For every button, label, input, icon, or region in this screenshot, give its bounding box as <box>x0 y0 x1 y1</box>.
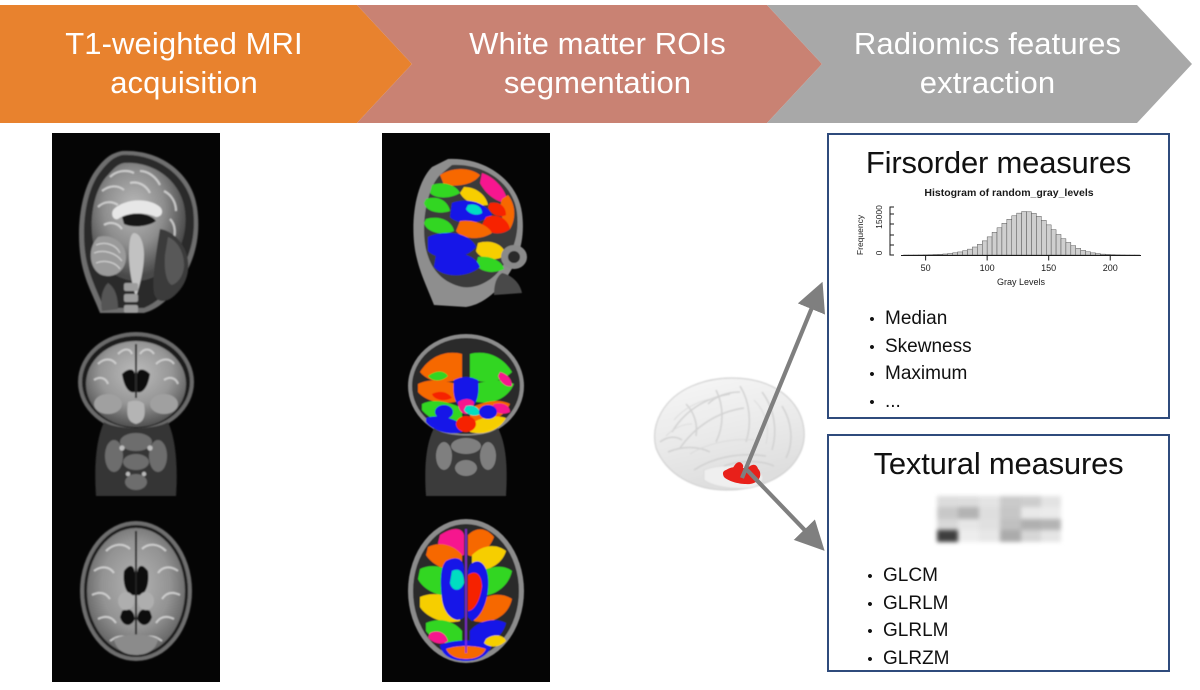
pipeline-step-white-matter-rois-segmentation: White matter ROIs segmentation <box>357 5 822 123</box>
firstorder-measures-box: Firsorder measures Histogram of random_g… <box>827 133 1170 419</box>
histogram-bar <box>992 232 997 255</box>
mri-segmented-column <box>382 133 550 682</box>
mri-panel-axial <box>52 499 220 682</box>
bullet-icon: • <box>859 309 885 331</box>
mri-panel-sagittal <box>52 133 220 316</box>
list-item: • ... <box>859 388 1168 416</box>
textural-box-title: Textural measures <box>829 446 1168 482</box>
brain-surface-render <box>620 350 840 520</box>
mri-segmented-panel-coronal <box>382 316 550 499</box>
histogram-bar <box>1021 212 1026 255</box>
bullet-icon: • <box>859 392 885 414</box>
histogram-bar <box>1090 253 1095 255</box>
histogram-ytick-15000: 15000 <box>874 205 884 229</box>
histogram-bar <box>1001 223 1006 255</box>
list-item: • Skewness <box>859 333 1168 361</box>
histogram-bar <box>962 251 967 255</box>
pipeline-step-t1-weighted-mri-acquisition: T1-weighted MRI acquisition <box>0 5 412 123</box>
histogram-bar <box>1036 216 1041 255</box>
textural-bullet-label: GLRLM <box>883 617 948 645</box>
textural-bullet-list: • GLCM • GLRLM • GLRLM • GLRZM <box>857 562 1168 672</box>
firstorder-box-title: Firsorder measures <box>829 145 1168 181</box>
textural-bullet-label: GLCM <box>883 562 938 590</box>
histogram-bar <box>1100 254 1105 255</box>
bullet-icon: • <box>857 649 883 671</box>
histogram-bar <box>937 254 942 255</box>
bullet-icon: • <box>857 621 883 643</box>
mri-native-column <box>52 133 220 682</box>
histogram-bar <box>972 247 977 255</box>
pipeline-step-radiomics-features-extraction: Radiomics features extraction <box>767 5 1192 123</box>
list-item: • Median <box>859 305 1168 333</box>
histogram-title: Histogram of random_gray_levels <box>924 187 1093 199</box>
histogram-ylabel: Frequency <box>855 214 865 255</box>
textural-bullet-label: GLRLM <box>883 590 948 618</box>
histogram-bar <box>1065 242 1070 255</box>
bullet-icon: • <box>857 594 883 616</box>
list-item: • GLRLM <box>857 590 1168 618</box>
textural-bullet-label: GLRZM <box>883 645 950 673</box>
histogram-bar <box>952 253 957 255</box>
histogram-xlabel: Gray Levels <box>996 277 1045 287</box>
pipeline-step-3-label: Radiomics features extraction <box>846 25 1129 103</box>
histogram-bar <box>1006 219 1011 255</box>
histogram-bar <box>1070 246 1075 255</box>
histogram-bar <box>942 254 947 255</box>
histogram-bar <box>982 241 987 255</box>
firstorder-bullet-label: Maximum <box>885 360 967 388</box>
histogram-bar <box>957 252 962 255</box>
histogram-bar <box>1061 239 1066 255</box>
list-item: • GLRZM <box>857 645 1168 673</box>
textural-measures-box: Textural measures <box>827 434 1170 672</box>
histogram-bar <box>1041 220 1046 255</box>
mri-panel-coronal <box>52 316 220 499</box>
histogram-bar <box>987 237 992 255</box>
mri-segmented-panel-sagittal <box>382 133 550 316</box>
histogram-bar <box>947 254 952 255</box>
histogram-bar <box>1051 230 1056 255</box>
histogram-xtick-label: 150 <box>1041 263 1056 273</box>
bullet-icon: • <box>857 566 883 588</box>
histogram-bar <box>1011 216 1016 255</box>
histogram-xtick-label: 200 <box>1102 263 1117 273</box>
histogram-bar <box>1095 254 1100 255</box>
histogram-bar <box>1075 248 1080 255</box>
pipeline-step-1-label: T1-weighted MRI acquisition <box>57 25 311 103</box>
histogram-ytick-0: 0 <box>874 250 884 255</box>
histogram-bar <box>967 249 972 255</box>
histogram-bar <box>1085 252 1090 255</box>
firstorder-bullet-label: Skewness <box>885 333 972 361</box>
texture-matrix-image <box>937 496 1061 542</box>
firstorder-bullet-label: ... <box>885 388 901 416</box>
histogram-bar <box>1080 250 1085 255</box>
list-item: • GLRLM <box>857 617 1168 645</box>
bullet-icon: • <box>859 364 885 386</box>
histogram-bar <box>1105 254 1110 255</box>
firstorder-bullet-list: • Median • Skewness • Maximum • ... <box>859 305 1168 415</box>
bullet-icon: • <box>859 337 885 359</box>
radiomics-pipeline-figure: T1-weighted MRI acquisition White matter… <box>0 0 1200 690</box>
mri-segmented-panel-axial <box>382 499 550 682</box>
histogram-bar <box>1016 213 1021 255</box>
pipeline-banner: T1-weighted MRI acquisition White matter… <box>0 5 1200 123</box>
list-item: • GLCM <box>857 562 1168 590</box>
list-item: • Maximum <box>859 360 1168 388</box>
histogram-bar <box>1046 225 1051 255</box>
histogram-xtick-label: 50 <box>920 263 930 273</box>
gray-level-histogram: Histogram of random_gray_levels Frequenc… <box>849 183 1149 291</box>
histogram-bar <box>1031 213 1036 255</box>
histogram-xtick-label: 100 <box>979 263 994 273</box>
pipeline-step-2-label: White matter ROIs segmentation <box>461 25 734 103</box>
histogram-bar <box>977 244 982 255</box>
histogram-bar <box>1026 212 1031 255</box>
histogram-bar <box>997 228 1002 255</box>
histogram-bar <box>1056 234 1061 255</box>
firstorder-bullet-label: Median <box>885 305 947 333</box>
